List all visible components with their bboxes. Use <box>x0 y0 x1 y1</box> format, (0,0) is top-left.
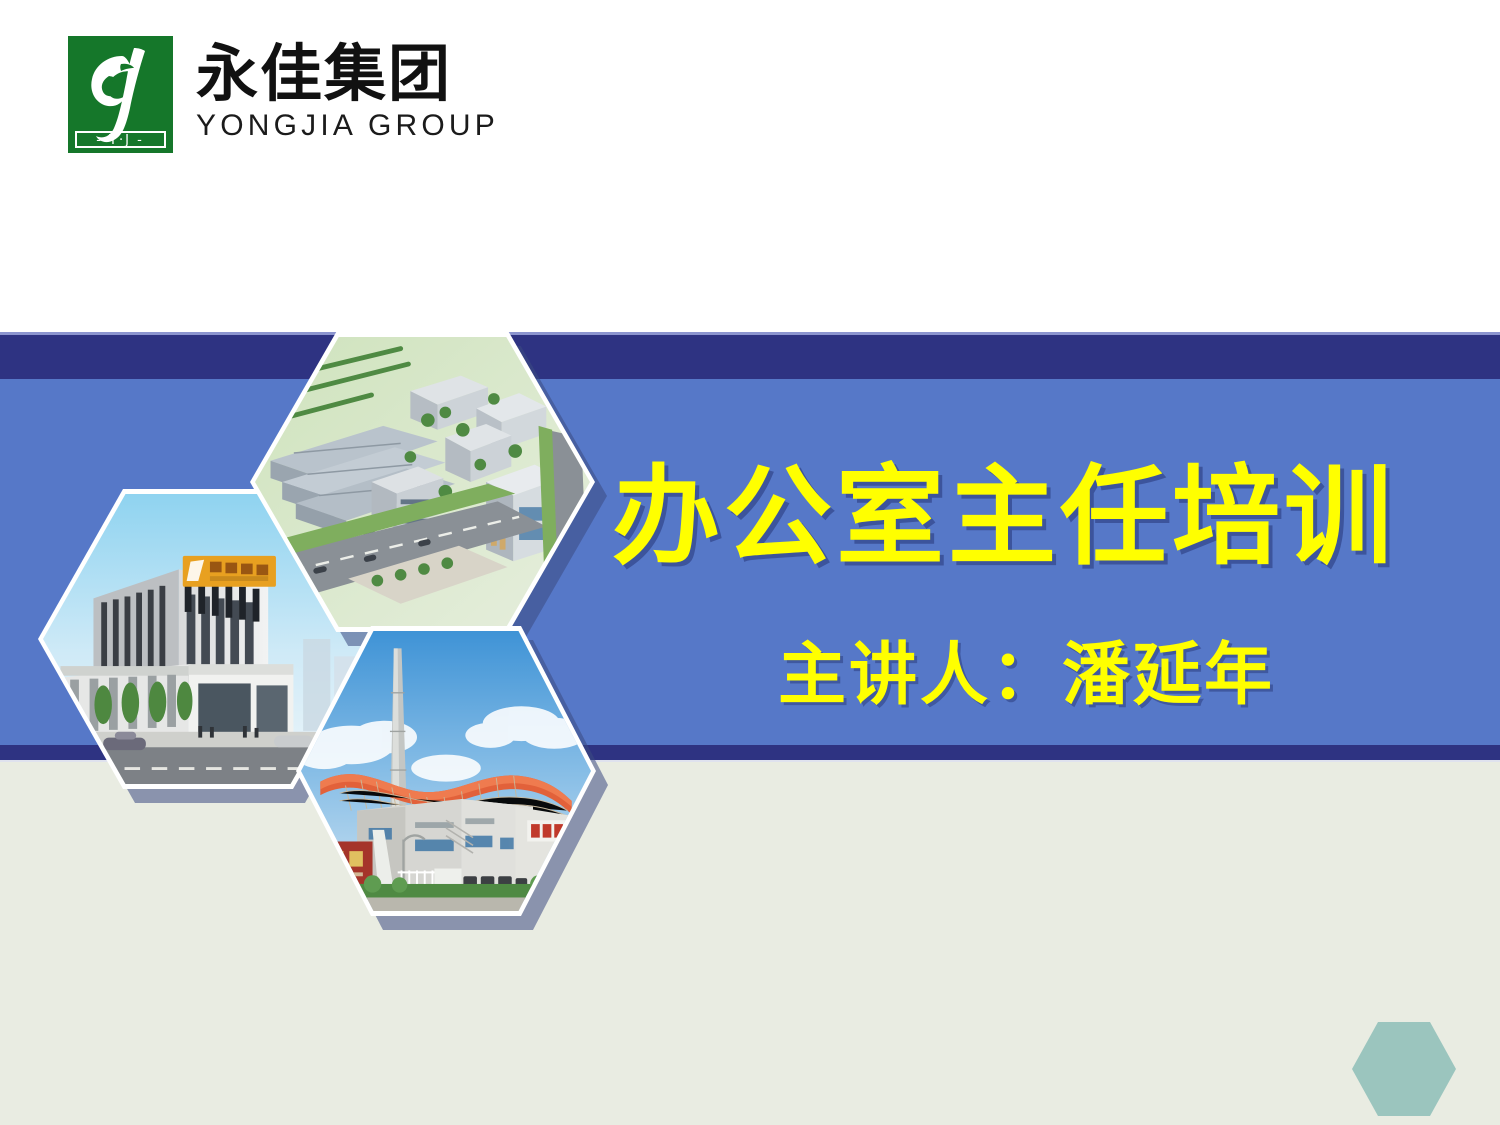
lower-background <box>0 760 1500 1125</box>
company-name-en: YONGJIA GROUP <box>196 108 441 144</box>
logo-wordmark: 永佳集团 YONGJIA GROUP <box>196 40 441 144</box>
band-dark-stripe-top <box>0 335 1500 379</box>
yongjia-leaf-monogram-icon: - Y·J - <box>68 36 173 153</box>
slide-title: 办公室主任培训 <box>612 455 1396 579</box>
industrial-park-aerial-photo <box>250 332 595 632</box>
svg-text:- Y·J -: - Y·J - <box>96 133 144 148</box>
slide-subtitle: 主讲人：潘延年 <box>778 634 1275 716</box>
company-logo: - Y·J - 永佳集团 YONGJIA GROUP <box>68 36 438 156</box>
factory-plant-photo <box>296 626 596 916</box>
company-name-cn: 永佳集团 <box>196 40 441 108</box>
title-slide: - Y·J - 永佳集团 YONGJIA GROUP <box>0 0 1500 1125</box>
